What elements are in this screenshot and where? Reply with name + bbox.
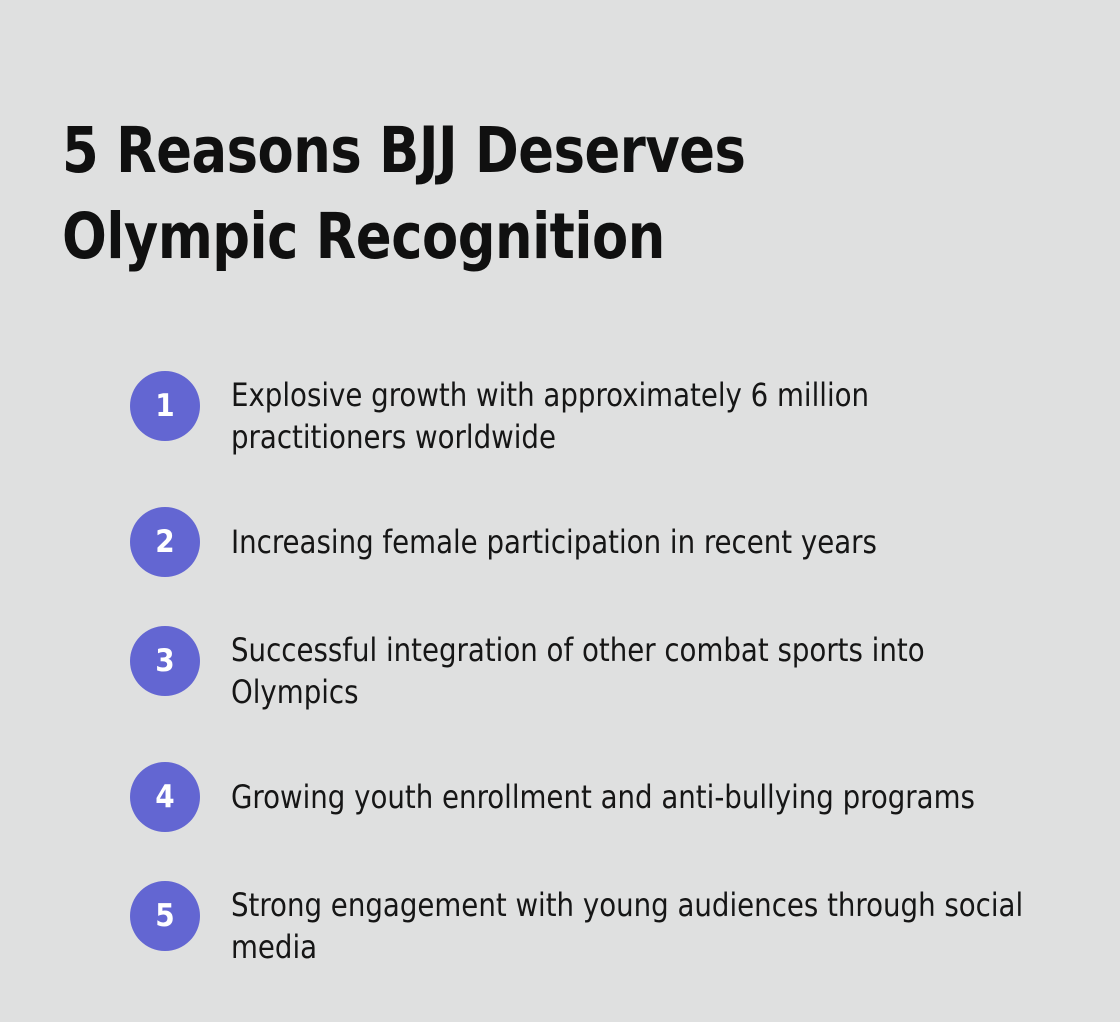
number-badge-4: 4 [130,762,200,832]
number-badge-2: 2 [130,507,200,577]
reason-text-2: Increasing female participation in recen… [231,507,1046,563]
reason-text-1: Explosive growth with approximately 6 mi… [231,371,1046,458]
reason-text-5: Strong engagement with young audiences t… [231,881,1046,968]
number-badge-3: 3 [130,626,200,696]
reason-list: 1 Explosive growth with approximately 6 … [130,371,1080,968]
infographic-canvas: 5 Reasons BJJ Deserves Olympic Recogniti… [0,0,1120,1022]
list-item: 3 Successful integration of other combat… [130,626,1080,713]
number-badge-1: 1 [130,371,200,441]
reason-text-4: Growing youth enrollment and anti-bullyi… [231,762,1046,818]
reason-text-3: Successful integration of other combat s… [231,626,1046,713]
number-badge-5: 5 [130,881,200,951]
list-item: 2 Increasing female participation in rec… [130,507,1080,577]
list-item: 1 Explosive growth with approximately 6 … [130,371,1080,458]
list-item: 4 Growing youth enrollment and anti-bull… [130,762,1080,832]
title-block: 5 Reasons BJJ Deserves Olympic Recogniti… [62,108,882,280]
page-title: 5 Reasons BJJ Deserves Olympic Recogniti… [62,108,825,280]
list-item: 5 Strong engagement with young audiences… [130,881,1080,968]
